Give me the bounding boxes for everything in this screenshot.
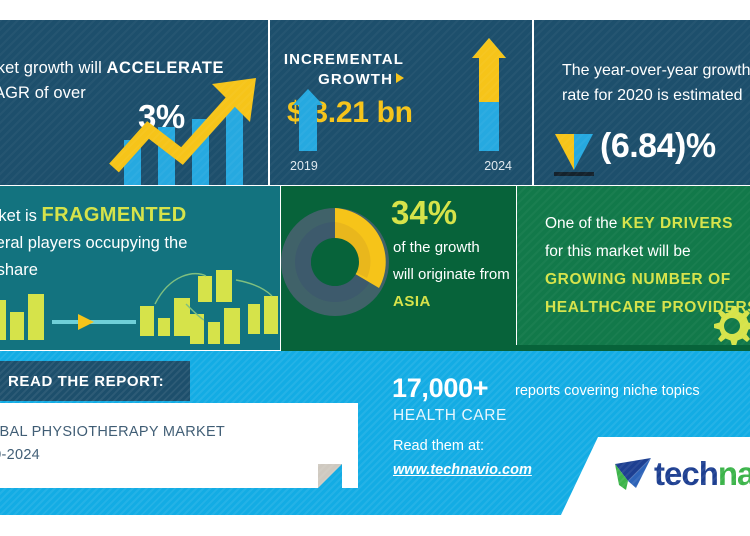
logo-text-navio: navio [718, 455, 750, 492]
asia-line1: of the growth [393, 239, 480, 256]
asia-share-value: 34% [391, 194, 457, 232]
asia-line2: will originate from [393, 266, 510, 283]
asia-region-label: ASIA [393, 293, 431, 310]
logo-text-tech: tech [654, 455, 718, 492]
yoy-value: (6.84)% [600, 127, 716, 166]
incremental-growth-title: INCREMENTAL GROWTH [284, 50, 404, 90]
yoy-line1: The year-over-year growth [562, 62, 750, 79]
page-fold-decoration [318, 464, 342, 488]
infographic-canvas: market growth will ACCELERATE a CAGR of … [0, 0, 750, 536]
panel-key-drivers: One of the KEY DRIVERS for this market w… [517, 186, 750, 350]
report-count: 17,000+ [392, 373, 488, 404]
panel-incremental-growth: INCREMENTAL GROWTH $ 3.21 bn 2019 2024 [270, 20, 532, 185]
drivers-line3: GROWING NUMBER OF [545, 271, 731, 288]
yoy-text: The year-over-year growth rate for 2020 … [562, 58, 750, 108]
report-count-text: reports covering niche topics [515, 383, 700, 399]
cagr-line1-prefix: market growth will [0, 59, 107, 77]
banner-cut-decoration [168, 361, 190, 401]
footer: READ THE REPORT: GLOBAL PHYSIOTHERAPY MA… [0, 351, 750, 515]
read-the-report-label: READ THE REPORT: [8, 373, 164, 390]
drivers-keyword: KEY DRIVERS [622, 215, 733, 232]
bar-2019 [290, 89, 326, 151]
report-card-text: GLOBAL PHYSIOTHERAPY MARKET 2020-2024 [0, 421, 225, 467]
panel-fragmented: market is FRAGMENTED several players occ… [0, 186, 280, 350]
down-triangle-icon [554, 132, 594, 178]
bar-2024 [469, 38, 509, 151]
fragmented-line2: several players occupying the [0, 234, 187, 252]
drivers-line1-prefix: One of the [545, 215, 622, 232]
label-2019: 2019 [290, 159, 318, 173]
read-the-report-banner: READ THE REPORT: [0, 361, 190, 401]
fragmented-keyword: FRAGMENTED [42, 204, 187, 226]
drivers-line2: for this market will be [545, 243, 691, 260]
panel-asia-share: 34% of the growth will originate from AS… [281, 186, 516, 350]
play-triangle-icon [396, 73, 404, 83]
fragmented-line1-prefix: market is [0, 207, 42, 225]
category-label: HEALTH CARE [393, 407, 507, 425]
panel-yoy-growth: The year-over-year growth rate for 2020 … [534, 20, 750, 185]
report-card[interactable]: GLOBAL PHYSIOTHERAPY MARKET 2020-2024 [0, 403, 358, 488]
cagr-line2: a CAGR of over [0, 84, 86, 102]
top-row: market growth will ACCELERATE a CAGR of … [0, 20, 750, 185]
label-2024: 2024 [484, 159, 512, 173]
report-years: 2020-2024 [0, 447, 40, 463]
yoy-line2: rate for 2020 is estimated [562, 87, 743, 104]
asia-text: of the growth will originate from ASIA [393, 234, 516, 315]
panel-cagr: market growth will ACCELERATE a CAGR of … [0, 20, 268, 185]
paper-plane-icon [612, 455, 654, 493]
city-buildings-icon [0, 270, 280, 350]
read-them-at-label: Read them at: [393, 438, 484, 454]
website-link[interactable]: www.technavio.com [393, 462, 532, 478]
donut-chart-icon [281, 200, 397, 330]
report-title: GLOBAL PHYSIOTHERAPY MARKET [0, 424, 225, 440]
logo-wordmark: technavio [654, 455, 750, 493]
up-trend-arrow-icon [108, 72, 268, 182]
gear-icon [708, 300, 750, 348]
middle-row: market is FRAGMENTED several players occ… [0, 186, 750, 350]
incremental-title-line1: INCREMENTAL [284, 51, 404, 68]
technavio-logo[interactable]: technavio [612, 455, 750, 493]
incremental-title-line2: GROWTH [318, 71, 393, 88]
